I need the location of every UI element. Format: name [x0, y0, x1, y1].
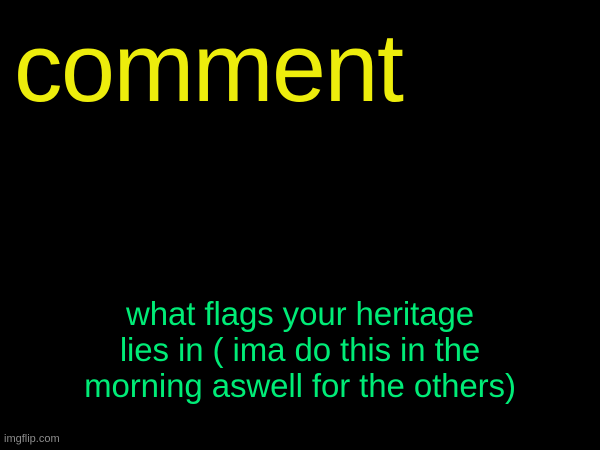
meme-bottom-caption: what flags your heritage lies in ( ima d… — [0, 296, 600, 404]
meme-image: comment what flags your heritage lies in… — [0, 0, 600, 450]
meme-bottom-caption-line-2: lies in ( ima do this in the — [0, 332, 600, 368]
imgflip-watermark: imgflip.com — [4, 433, 60, 445]
meme-bottom-caption-line-1: what flags your heritage — [0, 296, 600, 332]
meme-bottom-caption-line-3: morning aswell for the others) — [0, 368, 600, 404]
meme-top-caption: comment — [14, 19, 586, 116]
